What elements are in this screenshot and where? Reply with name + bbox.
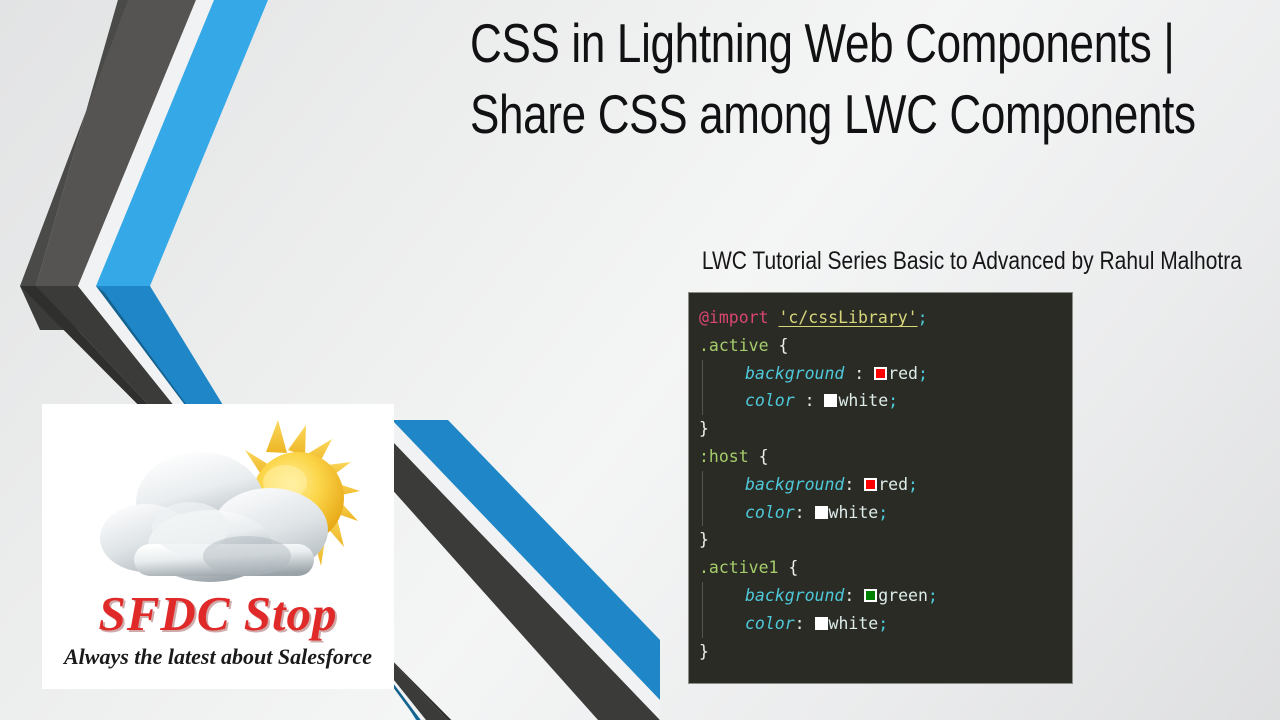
code-token-semicolon: ;	[918, 364, 928, 383]
presentation-slide: CSS in Lightning Web Components | Share …	[0, 0, 1280, 720]
code-token-atrule: @import	[699, 308, 769, 327]
code-line: background: green;	[689, 582, 1072, 610]
code-line: background : red;	[689, 360, 1072, 388]
chevron-band-gray-upper	[36, 0, 196, 286]
code-token-value: red	[878, 475, 908, 494]
color-swatch-white	[824, 394, 837, 407]
code-token-semicolon: ;	[888, 391, 898, 410]
code-token-brace: }	[699, 419, 709, 438]
code-token-semicolon: ;	[878, 614, 888, 633]
color-swatch-red	[874, 367, 887, 380]
code-line: :host {	[689, 443, 1072, 471]
chevron-apex-gray	[20, 286, 104, 330]
code-line: }	[689, 638, 1072, 666]
color-swatch-white	[815, 617, 828, 630]
chevron-band-gray-upper-shadow	[20, 0, 128, 286]
code-line: }	[689, 415, 1072, 443]
code-token-value: white	[829, 614, 879, 633]
code-token-selector: :host	[699, 447, 749, 466]
code-line: background: red;	[689, 471, 1072, 499]
chevron-band-blue-lower2	[392, 420, 660, 700]
code-token-brace: {	[788, 558, 798, 577]
logo-tagline: Always the latest about Salesforce	[42, 644, 394, 670]
color-swatch-white	[815, 506, 828, 519]
code-line: .active1 {	[689, 554, 1072, 582]
code-token-value: white	[838, 391, 888, 410]
code-line: @import 'c/cssLibrary';	[689, 304, 1072, 332]
code-line: color : white;	[689, 387, 1072, 415]
code-token-colon: :	[795, 503, 815, 522]
code-token-semicolon: ;	[878, 503, 888, 522]
logo-wordmark: SFDC Stop	[42, 586, 394, 642]
code-token-selector: .active	[699, 336, 769, 355]
code-line: }	[689, 526, 1072, 554]
code-token-value: white	[829, 503, 879, 522]
code-line: .active {	[689, 332, 1072, 360]
code-token-colon: :	[844, 475, 864, 494]
code-token-property: color	[745, 503, 795, 522]
code-token-semicolon: ;	[918, 308, 928, 327]
color-swatch-green	[864, 589, 877, 602]
chevron-band-blue-upper	[96, 0, 268, 286]
code-token-value: green	[878, 586, 928, 605]
code-token-semicolon: ;	[928, 586, 938, 605]
chevron-gap-lower2	[372, 420, 660, 720]
code-token-property: background	[745, 586, 844, 605]
code-token-property: background	[745, 475, 844, 494]
css-code-panel: @import 'c/cssLibrary';.active {backgrou…	[688, 292, 1073, 684]
title-block: CSS in Lightning Web Components | Share …	[470, 8, 1270, 150]
code-token-semicolon: ;	[908, 475, 918, 494]
code-token-value: red	[888, 364, 918, 383]
code-token-selector: .active1	[699, 558, 778, 577]
code-token-brace: {	[778, 336, 788, 355]
code-token-colon: :	[844, 586, 864, 605]
page-subtitle: LWC Tutorial Series Basic to Advanced by…	[702, 246, 1242, 276]
code-line: color: white;	[689, 610, 1072, 638]
code-token-string: 'c/cssLibrary'	[778, 308, 917, 327]
code-token-brace: {	[759, 447, 769, 466]
code-token-colon: :	[795, 391, 825, 410]
code-token-brace: }	[699, 530, 709, 549]
code-line: color: white;	[689, 499, 1072, 527]
sfdc-stop-logo-card: SFDC Stop Always the latest about Salesf…	[42, 404, 394, 689]
css-code-listing: @import 'c/cssLibrary';.active {backgrou…	[689, 293, 1072, 665]
code-token-property: color	[745, 391, 795, 410]
page-title: CSS in Lightning Web Components | Share …	[470, 8, 1270, 150]
code-token-property: background	[745, 364, 844, 383]
color-swatch-red	[864, 478, 877, 491]
code-token-colon: :	[844, 364, 874, 383]
code-token-brace: }	[699, 642, 709, 661]
chevron-gap-upper	[78, 0, 214, 286]
code-token-property: color	[745, 614, 795, 633]
code-token-colon: :	[795, 614, 815, 633]
logo-artwork	[42, 406, 394, 601]
